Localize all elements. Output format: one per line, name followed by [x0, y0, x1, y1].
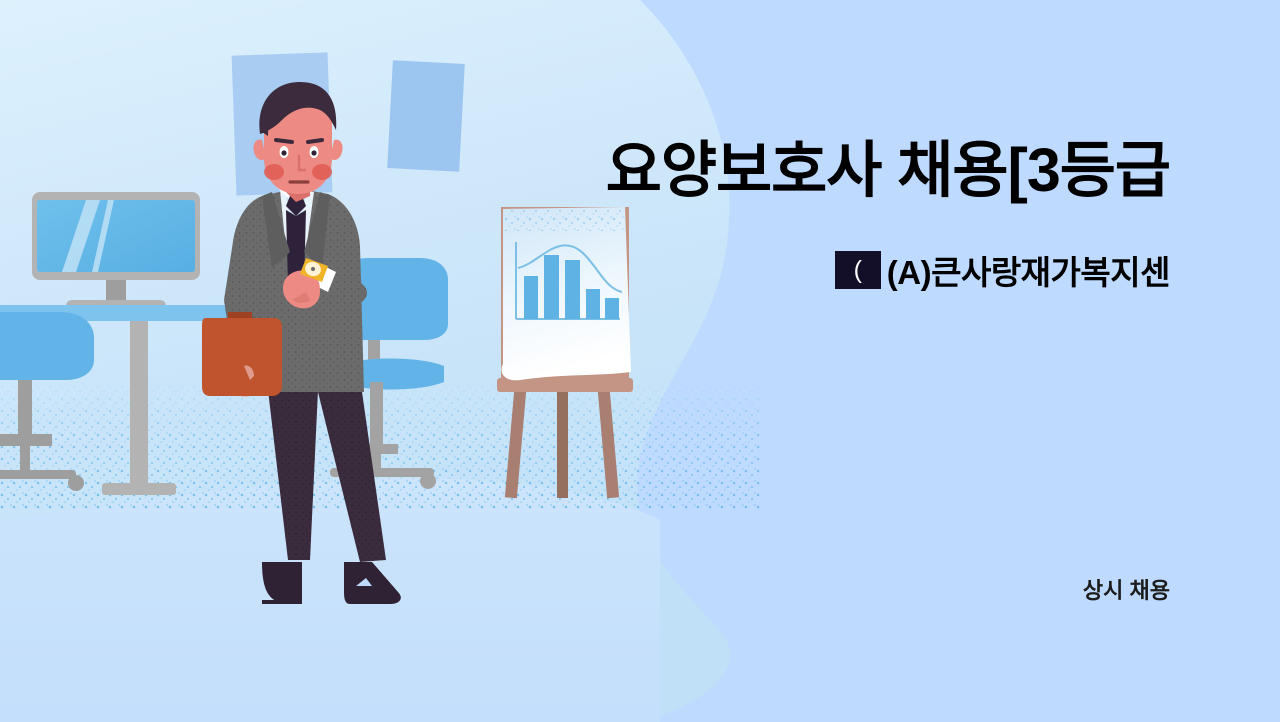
job-title-line: 요양보호사 채용[3등급 [410, 138, 1170, 202]
job-posting-banner: 요양보호사 채용[3등급 ( (A)큰사랑재가복지센 상시 채용 [0, 0, 1280, 722]
briefcase [202, 312, 282, 396]
status-line: 상시 채용 [410, 573, 1170, 605]
company-line: ( (A)큰사랑재가복지센 [410, 246, 1170, 294]
company-logo-badge: ( [835, 251, 881, 289]
company-name: (A)큰사랑재가복지센 [887, 246, 1170, 294]
page-title: 요양보호사 채용[3등급 [606, 136, 1170, 204]
office-illustration [0, 0, 1280, 722]
status-badge: 상시 채용 [1083, 578, 1170, 603]
